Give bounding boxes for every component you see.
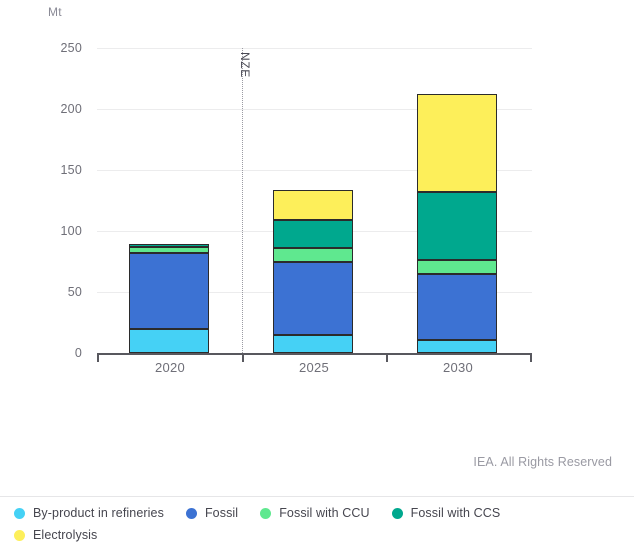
bar-segment-2025-fossil[interactable]: [273, 262, 353, 335]
bar-segment-2030-fossil[interactable]: [417, 274, 497, 340]
legend-divider: [0, 496, 634, 497]
x-axis-tick-2: [386, 354, 388, 362]
x-label-2020: 2020: [110, 360, 230, 375]
chart-legend: By-product in refineriesFossilFossil wit…: [14, 506, 630, 550]
y-tick-100: 100: [61, 224, 82, 238]
y-axis-unit-label: Mt: [48, 5, 62, 19]
x-axis-line: [97, 353, 532, 355]
legend-item-electrolysis[interactable]: Electrolysis: [14, 528, 97, 542]
legend-label-fossil-with-ccu: Fossil with CCU: [279, 506, 369, 520]
x-axis-tick-1: [242, 354, 244, 362]
bar-segment-2025-electrolysis[interactable]: [273, 190, 353, 221]
chart-container: Mt 250 200 150 100 50 0 NZE 2020 2025 20…: [0, 0, 634, 556]
copyright-notice: IEA. All Rights Reserved: [473, 455, 612, 469]
nze-marker-label: NZE: [238, 52, 252, 78]
y-axis-tick-labels: 250 200 150 100 50 0: [0, 48, 90, 353]
bar-segment-2020-fossil-with-ccu[interactable]: [129, 247, 209, 253]
x-axis-cap-right: [530, 353, 532, 362]
legend-item-by-product-in-refineries[interactable]: By-product in refineries: [14, 506, 164, 520]
legend-label-fossil: Fossil: [205, 506, 238, 520]
bar-segment-2025-fossil-with-ccu[interactable]: [273, 248, 353, 261]
legend-item-fossil-with-ccu[interactable]: Fossil with CCU: [260, 506, 369, 520]
legend-swatch-fossil-with-ccu-icon: [260, 508, 271, 519]
legend-swatch-fossil-with-ccs-icon: [392, 508, 403, 519]
bar-segment-2020-fossil-with-ccs[interactable]: [129, 244, 209, 246]
gridline-250: [97, 48, 532, 49]
legend-swatch-electrolysis-icon: [14, 530, 25, 541]
legend-item-fossil-with-ccs[interactable]: Fossil with CCS: [392, 506, 501, 520]
bar-segment-2030-fossil-with-ccu[interactable]: [417, 260, 497, 273]
bar-segment-2030-electrolysis[interactable]: [417, 94, 497, 192]
y-tick-200: 200: [61, 102, 82, 116]
bar-segment-2030-fossil-with-ccs[interactable]: [417, 192, 497, 260]
bar-segment-2030-by-product-in-refineries[interactable]: [417, 340, 497, 353]
nze-marker-line: [242, 48, 243, 353]
legend-label-by-product-in-refineries: By-product in refineries: [33, 506, 164, 520]
bar-segment-2020-by-product-in-refineries[interactable]: [129, 329, 209, 353]
x-label-2025: 2025: [254, 360, 374, 375]
plot-area: [97, 48, 532, 353]
x-axis-cap-left: [97, 353, 99, 362]
bar-segment-2025-by-product-in-refineries[interactable]: [273, 335, 353, 353]
x-label-2030: 2030: [398, 360, 518, 375]
bar-segment-2020-fossil[interactable]: [129, 253, 209, 329]
y-tick-150: 150: [61, 163, 82, 177]
legend-swatch-fossil-icon: [186, 508, 197, 519]
bar-segment-2025-fossil-with-ccs[interactable]: [273, 220, 353, 248]
y-tick-250: 250: [61, 41, 82, 55]
legend-swatch-by-product-in-refineries-icon: [14, 508, 25, 519]
legend-item-fossil[interactable]: Fossil: [186, 506, 238, 520]
y-tick-0: 0: [75, 346, 82, 360]
y-tick-50: 50: [68, 285, 82, 299]
legend-label-fossil-with-ccs: Fossil with CCS: [411, 506, 501, 520]
legend-label-electrolysis: Electrolysis: [33, 528, 97, 542]
